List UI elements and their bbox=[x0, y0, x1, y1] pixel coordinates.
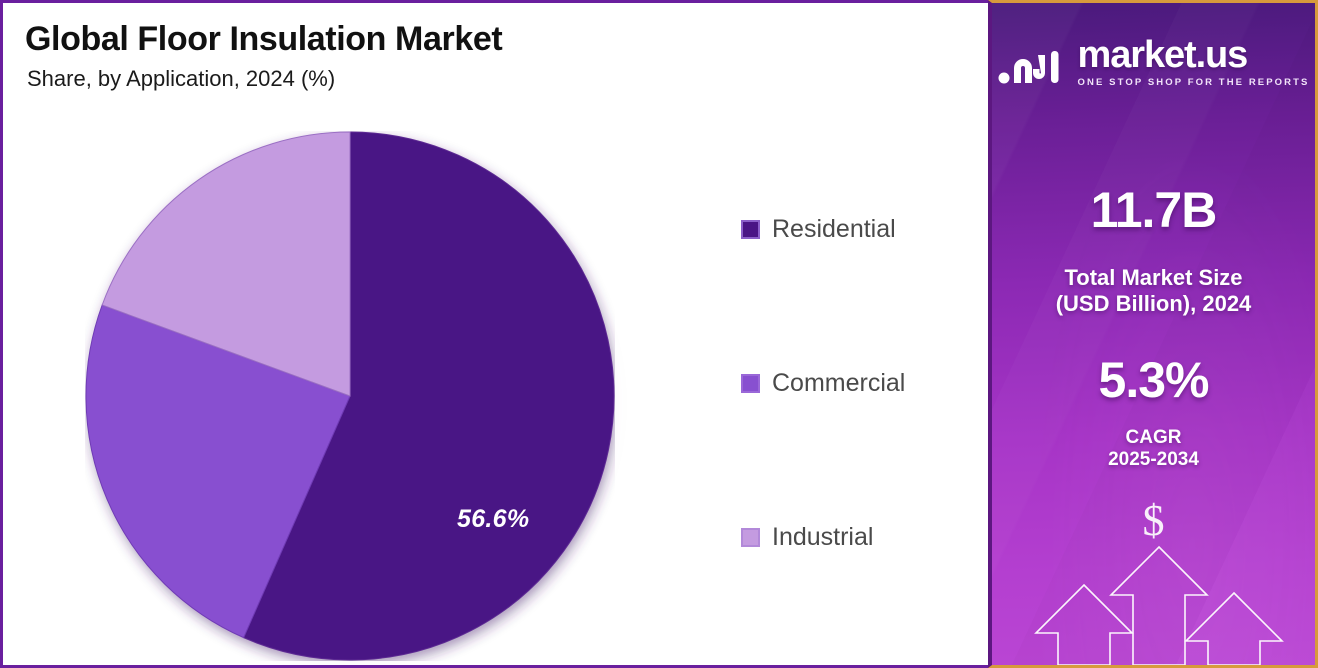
page-subtitle: Share, by Application, 2024 (%) bbox=[27, 66, 502, 92]
arrow-up-center-icon bbox=[1111, 547, 1207, 665]
growth-arrows-graphic: $ bbox=[992, 485, 1315, 665]
page-title: Global Floor Insulation Market bbox=[25, 21, 502, 58]
legend-label-residential: Residential bbox=[772, 215, 896, 244]
legend-label-industrial: Industrial bbox=[772, 523, 873, 552]
legend-label-commercial: Commercial bbox=[772, 369, 905, 398]
arrow-up-right-icon bbox=[1186, 593, 1282, 665]
pie-slice-value-label: 56.6% bbox=[457, 505, 529, 534]
cagr-caption-line1: CAGR bbox=[992, 427, 1315, 449]
arrow-up-left-icon bbox=[1036, 585, 1132, 665]
logo-tagline: ONE STOP SHOP FOR THE REPORTS bbox=[1078, 77, 1310, 88]
cagr-caption-line2: 2025-2034 bbox=[992, 449, 1315, 471]
pie-svg bbox=[85, 131, 615, 661]
infographic-root: Global Floor Insulation Market Share, by… bbox=[0, 0, 1318, 668]
dollar-sign-icon: $ bbox=[992, 499, 1315, 543]
legend-swatch-residential bbox=[741, 220, 760, 239]
legend-swatch-industrial bbox=[741, 528, 760, 547]
market-size-caption: Total Market Size (USD Billion), 2024 bbox=[992, 265, 1315, 317]
market-us-logo[interactable]: market.us ONE STOP SHOP FOR THE REPORTS bbox=[992, 37, 1315, 88]
legend-item-industrial[interactable]: Industrial bbox=[741, 523, 873, 552]
chart-panel: Global Floor Insulation Market Share, by… bbox=[0, 0, 988, 668]
brand-stats-panel: market.us ONE STOP SHOP FOR THE REPORTS … bbox=[988, 0, 1318, 668]
market-size-caption-line2: (USD Billion), 2024 bbox=[992, 291, 1315, 317]
legend-item-residential[interactable]: Residential bbox=[741, 215, 896, 244]
cagr-caption: CAGR 2025-2034 bbox=[992, 427, 1315, 472]
market-size-caption-line1: Total Market Size bbox=[992, 265, 1315, 291]
logo-wordmark: market.us bbox=[1078, 37, 1248, 73]
legend-item-commercial[interactable]: Commercial bbox=[741, 369, 905, 398]
title-block: Global Floor Insulation Market Share, by… bbox=[25, 21, 502, 92]
cagr-value: 5.3% bbox=[992, 351, 1315, 409]
chart-legend: Residential Commercial Industrial bbox=[741, 3, 981, 668]
market-size-value: 11.7B bbox=[992, 181, 1315, 239]
bar-chart-logo-icon bbox=[998, 41, 1066, 85]
pie-chart: 56.6% bbox=[85, 131, 615, 661]
legend-swatch-commercial bbox=[741, 374, 760, 393]
